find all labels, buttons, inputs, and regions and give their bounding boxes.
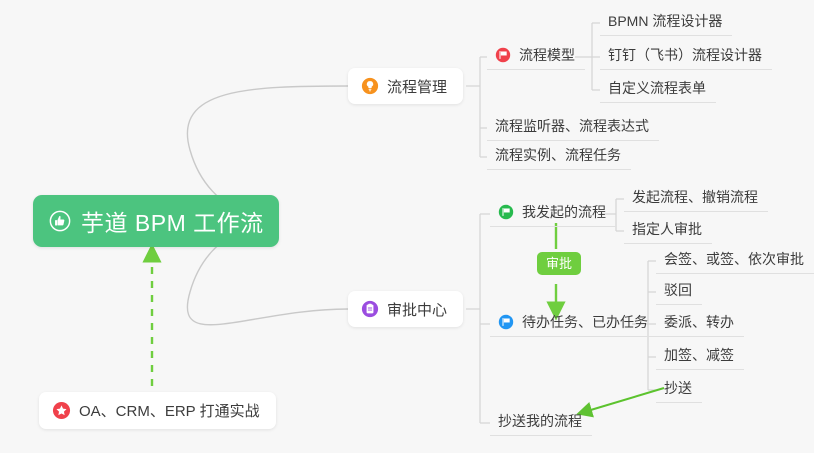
flag-icon — [498, 314, 514, 330]
flag-icon — [498, 204, 514, 220]
annotation-badge-approval: 审批 — [537, 252, 581, 275]
node-listener-expression[interactable]: 流程监听器、流程表达式 — [487, 115, 659, 141]
node-dingtalk-feishu-designer[interactable]: 钉钉（飞书）流程设计器 — [600, 44, 772, 70]
node-todo-done-tasks[interactable]: 待办任务、已办任务 — [490, 311, 658, 337]
node-instance-task[interactable]: 流程实例、流程任务 — [487, 144, 631, 170]
node-process-model[interactable]: 流程模型 — [487, 44, 585, 70]
node-countersign[interactable]: 会签、或签、依次审批 — [656, 248, 814, 274]
branch-label: 审批中心 — [387, 299, 447, 320]
root-node[interactable]: 芋道 BPM 工作流 — [33, 195, 279, 247]
node-delegate-transfer[interactable]: 委派、转办 — [656, 311, 744, 337]
star-icon — [52, 401, 71, 420]
node-label: 自定义流程表单 — [608, 81, 706, 95]
flag-icon — [495, 47, 511, 63]
node-label: 发起流程、撤销流程 — [632, 190, 758, 204]
root-label: 芋道 BPM 工作流 — [81, 204, 264, 238]
footnote-label: OA、CRM、ERP 打通实战 — [79, 400, 260, 421]
node-label: 流程实例、流程任务 — [495, 148, 621, 162]
node-label: 流程监听器、流程表达式 — [495, 119, 649, 133]
node-cc-my-process[interactable]: 抄送我的流程 — [490, 410, 592, 436]
node-label: 钉钉（飞书）流程设计器 — [608, 48, 762, 62]
annotation-label: 审批 — [546, 256, 572, 271]
node-label: 会签、或签、依次审批 — [664, 252, 804, 266]
footnote-node[interactable]: OA、CRM、ERP 打通实战 — [39, 392, 276, 429]
node-label: 抄送 — [664, 381, 692, 395]
node-custom-process-form[interactable]: 自定义流程表单 — [600, 77, 716, 103]
node-my-initiated[interactable]: 我发起的流程 — [490, 201, 616, 227]
node-label: 我发起的流程 — [522, 205, 606, 219]
arrow-cc-to-cc-my-process — [584, 388, 664, 412]
node-bpmn-designer[interactable]: BPMN 流程设计器 — [600, 10, 732, 36]
node-label: 待办任务、已办任务 — [522, 315, 648, 329]
branch-node-process-management[interactable]: 流程管理 — [348, 68, 463, 104]
branch-label: 流程管理 — [387, 76, 447, 97]
node-label: 委派、转办 — [664, 315, 734, 329]
node-label: 抄送我的流程 — [498, 414, 582, 428]
node-cc[interactable]: 抄送 — [656, 377, 702, 403]
node-reject[interactable]: 驳回 — [656, 279, 702, 305]
thumbs-up-icon — [49, 210, 71, 232]
node-label: 指定人审批 — [632, 222, 702, 236]
node-label: 驳回 — [664, 283, 692, 297]
branch-node-approval-center[interactable]: 审批中心 — [348, 291, 463, 327]
lightbulb-pin-icon — [361, 77, 379, 95]
node-label: BPMN 流程设计器 — [608, 14, 722, 28]
node-label: 加签、减签 — [664, 348, 734, 362]
node-label: 流程模型 — [519, 48, 575, 62]
node-designated-approver[interactable]: 指定人审批 — [624, 218, 712, 244]
node-add-remove-sign[interactable]: 加签、减签 — [656, 344, 744, 370]
clipboard-icon — [361, 300, 379, 318]
node-start-cancel-process[interactable]: 发起流程、撤销流程 — [624, 186, 768, 212]
mindmap-canvas: 芋道 BPM 工作流 流程管理 流程模型 BPMN 流程设计器 钉钉（飞书）流程 — [0, 0, 814, 453]
